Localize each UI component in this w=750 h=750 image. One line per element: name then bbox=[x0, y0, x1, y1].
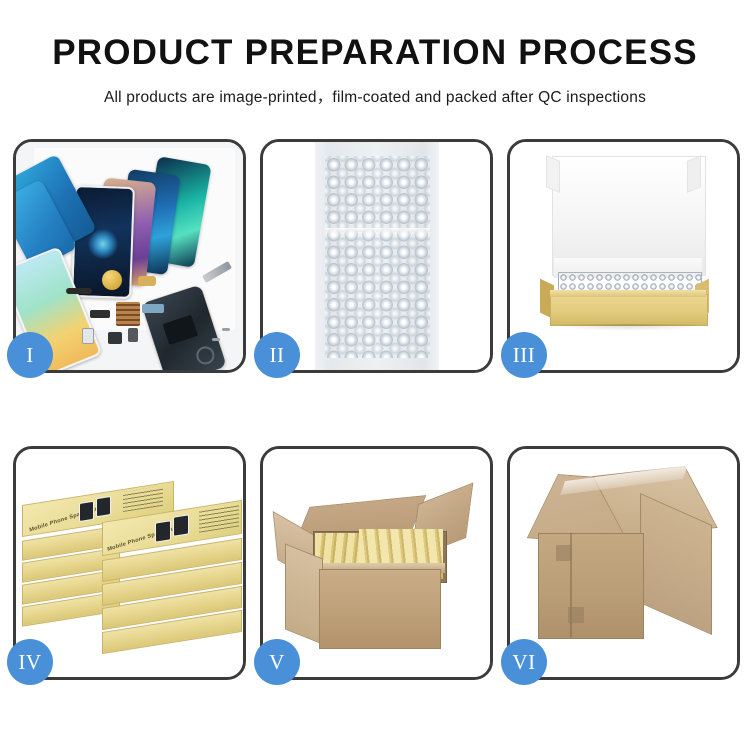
connector-part-c bbox=[90, 310, 110, 318]
step-image-v bbox=[263, 449, 490, 677]
bubble-wrap-highlight bbox=[325, 228, 430, 238]
step-badge-iv: IV bbox=[7, 639, 53, 685]
grid-chip-part bbox=[116, 302, 140, 326]
carton-front-panel bbox=[319, 569, 441, 649]
step-image-vi bbox=[510, 449, 737, 677]
page-title: PRODUCT PREPARATION PROCESS bbox=[0, 34, 750, 73]
page-subtitle: All products are image-printed，film-coat… bbox=[0, 85, 750, 107]
speaker-part bbox=[108, 332, 122, 344]
sealed-carton-front-panel bbox=[538, 533, 644, 639]
screen-burst-graphic bbox=[87, 229, 118, 260]
step-panel-v: V bbox=[260, 446, 493, 680]
step-badge-ii: II bbox=[254, 332, 300, 378]
screw-part-b bbox=[222, 328, 230, 331]
step-panel-ii: II bbox=[260, 139, 493, 373]
connector-part-b bbox=[142, 304, 164, 313]
step-panel-iii: III bbox=[507, 139, 740, 373]
step-image-i bbox=[16, 142, 243, 370]
step-badge-i: I bbox=[7, 332, 53, 378]
retail-box-phone-graphic-front-1 bbox=[155, 520, 171, 543]
carton-mark-bottom bbox=[568, 607, 584, 623]
retail-box-phone-graphic-back-2 bbox=[96, 496, 111, 517]
box-stack: Mobile Phone Spare Parts Mobile Phone Sp… bbox=[16, 449, 243, 677]
bubble-pattern-offset bbox=[325, 156, 430, 358]
step-badge-vi: VI bbox=[501, 639, 547, 685]
retail-box-phone-graphic-front-2 bbox=[173, 514, 189, 537]
carton-left-side bbox=[285, 543, 323, 644]
screw-part-a bbox=[212, 338, 220, 341]
mailer-front-panel bbox=[550, 294, 708, 326]
flex-strip-part bbox=[66, 288, 92, 294]
step-image-iii bbox=[510, 142, 737, 370]
connector-part-a bbox=[138, 276, 156, 286]
step-badge-v: V bbox=[254, 639, 300, 685]
step-image-ii bbox=[263, 142, 490, 370]
mailer-shadow bbox=[550, 324, 706, 331]
bubble-wrap-sheet bbox=[315, 142, 439, 370]
mailer-lid-left-flap bbox=[546, 155, 560, 193]
battery-chip bbox=[163, 315, 198, 345]
step-badge-iii: III bbox=[501, 332, 547, 378]
sim-tray-part bbox=[82, 328, 94, 344]
camera-ring-icon bbox=[194, 344, 217, 367]
step-panel-iv: Mobile Phone Spare Parts Mobile Phone Sp… bbox=[13, 446, 246, 680]
step-panel-vi: VI bbox=[507, 446, 740, 680]
step-panel-i: I bbox=[13, 139, 246, 373]
step-image-iv: Mobile Phone Spare Parts Mobile Phone Sp… bbox=[16, 449, 243, 677]
retail-box-phone-graphic-back-1 bbox=[79, 501, 94, 522]
coil-part bbox=[102, 270, 122, 290]
page-header: PRODUCT PREPARATION PROCESS All products… bbox=[0, 0, 750, 107]
mailer-lid-right-flap bbox=[687, 155, 701, 193]
process-steps-grid: I II III bbox=[13, 139, 737, 680]
vibrator-part bbox=[128, 328, 138, 342]
mailer-rim bbox=[550, 290, 706, 297]
carton-mark-top bbox=[556, 545, 572, 561]
